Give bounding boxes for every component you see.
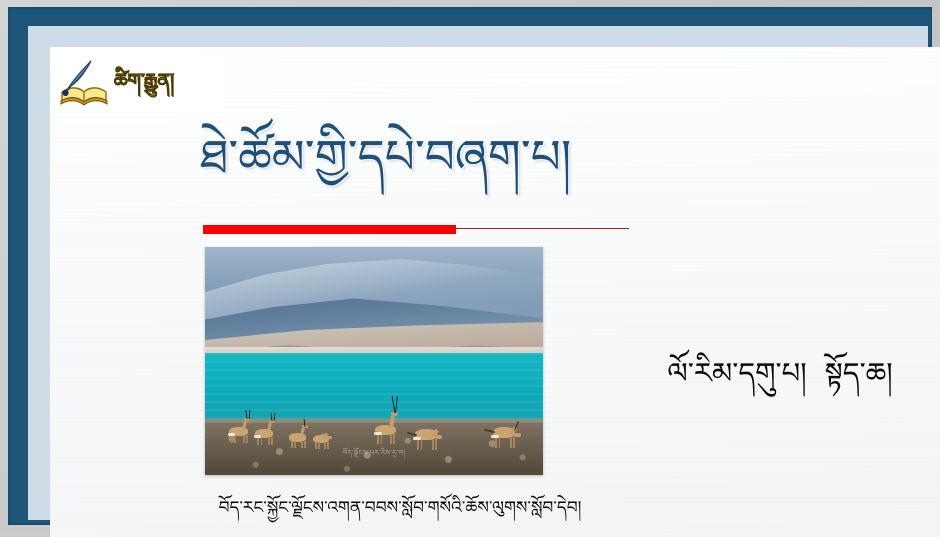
- slide: ཚིག་རྒྱུན། ཐེ་ཚོམ་གྱི་དཔེ་བཞག་པ།: [0, 0, 940, 532]
- antelope: [411, 419, 443, 449]
- slide-frame-inner-line: ཚིག་རྒྱུན། ཐེ་ཚོམ་གྱི་དཔེ་བཞག་པ།: [28, 26, 928, 520]
- cover-photo: བོད་ལྗོངས་པར་རིས་དྲ་བ།: [205, 247, 543, 475]
- volume-label: སྟོད་ཆ།: [825, 356, 893, 390]
- antelope: [311, 429, 335, 451]
- book-series-caption: བོད་རང་སྐྱོང་ལྗོངས་འགན་བབས་སློབ་གསོའི་ཆོ…: [90, 497, 710, 519]
- rule-thick-segment: [203, 225, 456, 234]
- grade-volume-line: ལོ་རིམ་དགུ་པ།སྟོད་ཆ།: [625, 355, 935, 391]
- antelope: [287, 425, 311, 449]
- page-title: ཐེ་ཚོམ་གྱི་དཔེ་བཞག་པ།: [200, 133, 640, 184]
- title-underline-rule: [203, 225, 629, 234]
- photo-watermark: བོད་ལྗོངས་པར་རིས་དྲ་བ།: [343, 446, 405, 465]
- antelope: [489, 417, 523, 447]
- logo-text: ཚིག་རྒྱུན།: [114, 72, 174, 95]
- quill-and-book-icon: [58, 59, 112, 107]
- grade-label: ལོ་རིམ་དགུ་པ།: [667, 356, 806, 390]
- slide-canvas: ཚིག་རྒྱུན། ཐེ་ཚོམ་གྱི་དཔེ་བཞག་པ།: [50, 47, 940, 537]
- antelope: [227, 417, 253, 443]
- antelope: [253, 419, 279, 445]
- logo[interactable]: ཚིག་རྒྱུན།: [55, 55, 223, 111]
- antelope: [373, 407, 403, 441]
- rule-thin-segment: [456, 228, 629, 229]
- slide-frame-border: ཚིག་རྒྱུན། ཐེ་ཚོམ་གྱི་དཔེ་བཞག་པ།: [8, 7, 932, 525]
